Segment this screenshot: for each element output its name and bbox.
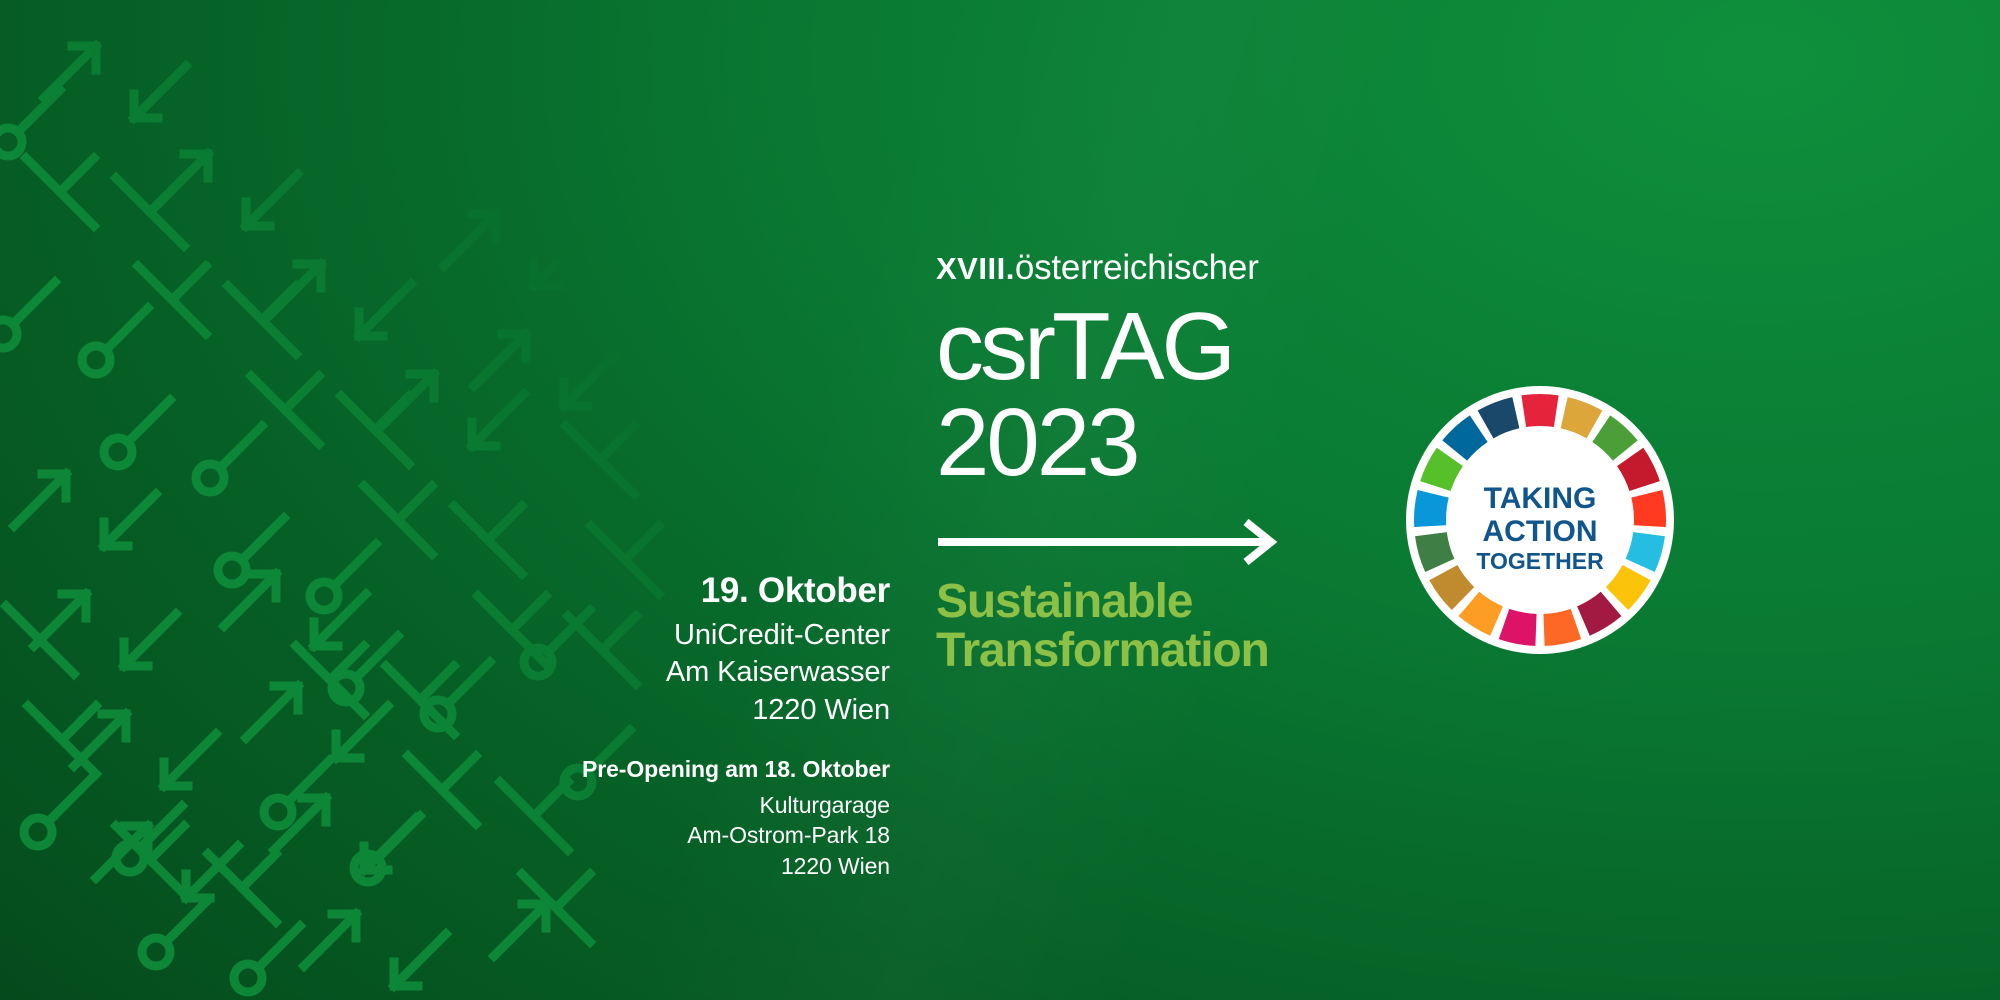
event-address: Am Kaiserwasser [300,654,890,691]
wordmark-year: 2023 [936,397,1416,488]
poster-canvas: 19. Oktober UniCredit-Center Am Kaiserwa… [0,0,2000,1000]
tagline-line-2: Transformation [936,626,1416,675]
pre-opening-address: Am-Ostrom-Park 18 [300,820,890,851]
arrow-right-icon [938,519,1279,565]
event-kicker: XVIII.österreichischer [936,250,1416,285]
pre-opening-heading: Pre-Opening am 18. Oktober [300,755,890,785]
event-date: 19. Oktober [300,570,890,611]
wordmark: csrTAG [936,303,1416,391]
pre-opening-city: 1220 Wien [300,851,890,882]
wordmark-tag: TAG [1052,293,1233,400]
tagline: Sustainable Transformation [936,577,1416,676]
sdg-wheel-badge: TAKING ACTION TOGETHER [1406,386,1674,654]
event-venue: UniCredit-Center [300,617,890,654]
kicker-roman-numeral: XVIII. [936,251,1015,286]
sdg-line-1: TAKING [1484,482,1597,515]
tagline-line-1: Sustainable [936,575,1192,628]
sdg-line-2: ACTION [1483,515,1598,548]
sdg-ring-segment [1521,394,1558,427]
event-info-block: 19. Oktober UniCredit-Center Am Kaiserwa… [300,570,890,729]
kicker-text: österreichischer [1015,248,1259,287]
pre-opening-venue: Kulturgarage [300,790,890,821]
event-city: 1220 Wien [300,692,890,729]
title-lockup: XVIII.österreichischer csrTAG 2023 Susta… [936,250,1416,675]
pre-opening-block: Pre-Opening am 18. Oktober Kulturgarage … [300,755,890,882]
wordmark-csr: csr [936,293,1052,400]
sdg-line-3: TOGETHER [1476,548,1604,574]
